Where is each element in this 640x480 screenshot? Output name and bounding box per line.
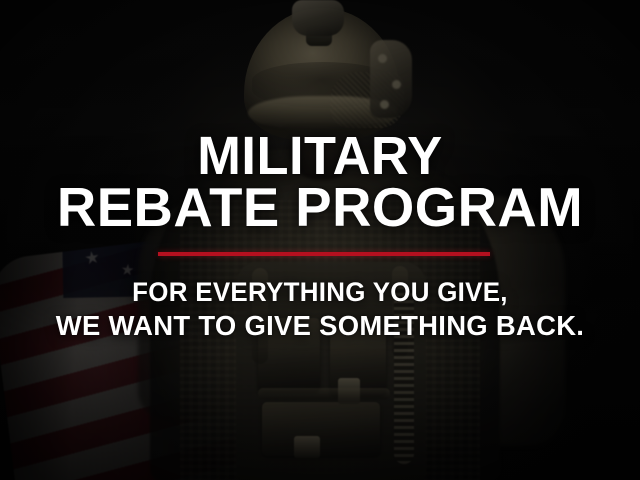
text-overlay: MILITARY REBATE PROGRAM FOR EVERYTHING Y… [0, 0, 640, 480]
subheadline-line-1: FOR EVERYTHING YOU GIVE, [13, 277, 627, 309]
headline-line-1: MILITARY [10, 130, 631, 183]
promo-banner: ★ ★ ★ ★ ★ [0, 0, 640, 480]
subheadline-line-2: WE WANT TO GIVE SOMETHING BACK. [6, 309, 633, 342]
headline-line-2: REBATE PROGRAM [3, 181, 637, 235]
red-divider-rule [158, 252, 490, 256]
